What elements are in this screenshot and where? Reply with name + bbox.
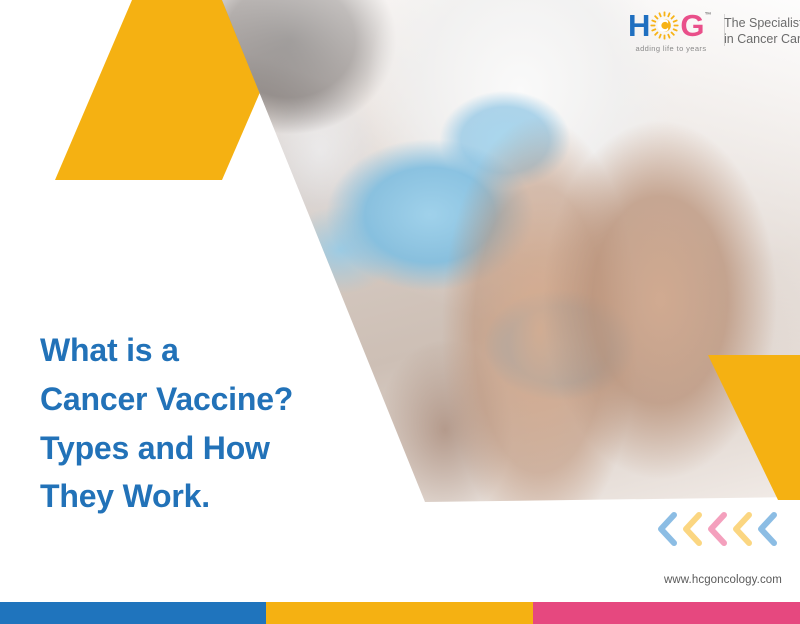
chevron-left-icon-1 (655, 512, 677, 546)
headline-line-1: What is a (40, 326, 370, 375)
logo-letter-g: G (680, 10, 703, 41)
chevron-left-icon-2 (680, 512, 702, 546)
promo-banner: H (0, 0, 800, 624)
chevron-decoration (655, 512, 777, 546)
trademark-symbol: ™ (705, 12, 711, 19)
chevron-left-icon-3 (705, 512, 727, 546)
logo-letter-h: H (628, 10, 649, 41)
logo-tagline: adding life to years (628, 44, 714, 53)
footer-color-bar (0, 602, 800, 624)
logo-divider (724, 14, 725, 46)
hcg-wordmark: H (628, 10, 714, 41)
strapline-line-1: The Specialist (724, 16, 800, 30)
bar-segment-pink (533, 602, 800, 624)
hcg-logo-mark: H (628, 10, 714, 53)
chevron-left-icon-4 (730, 512, 752, 546)
page-title: What is a Cancer Vaccine? Types and How … (40, 326, 370, 521)
bar-segment-yellow (266, 602, 533, 624)
strapline-line-2: in Cancer Care (724, 32, 800, 46)
hcg-sunburst-logo (650, 11, 679, 40)
website-url[interactable]: www.hcgoncology.com (664, 574, 782, 586)
hcg-logo[interactable]: H (628, 10, 800, 53)
brand-strapline: The Specialist in Cancer Care (724, 10, 800, 47)
bar-segment-blue (0, 602, 266, 624)
headline-line-4: They Work. (40, 472, 370, 521)
chevron-left-icon-5 (755, 512, 777, 546)
headline-line-2: Cancer Vaccine? (40, 375, 370, 424)
headline-line-3: Types and How (40, 424, 370, 473)
